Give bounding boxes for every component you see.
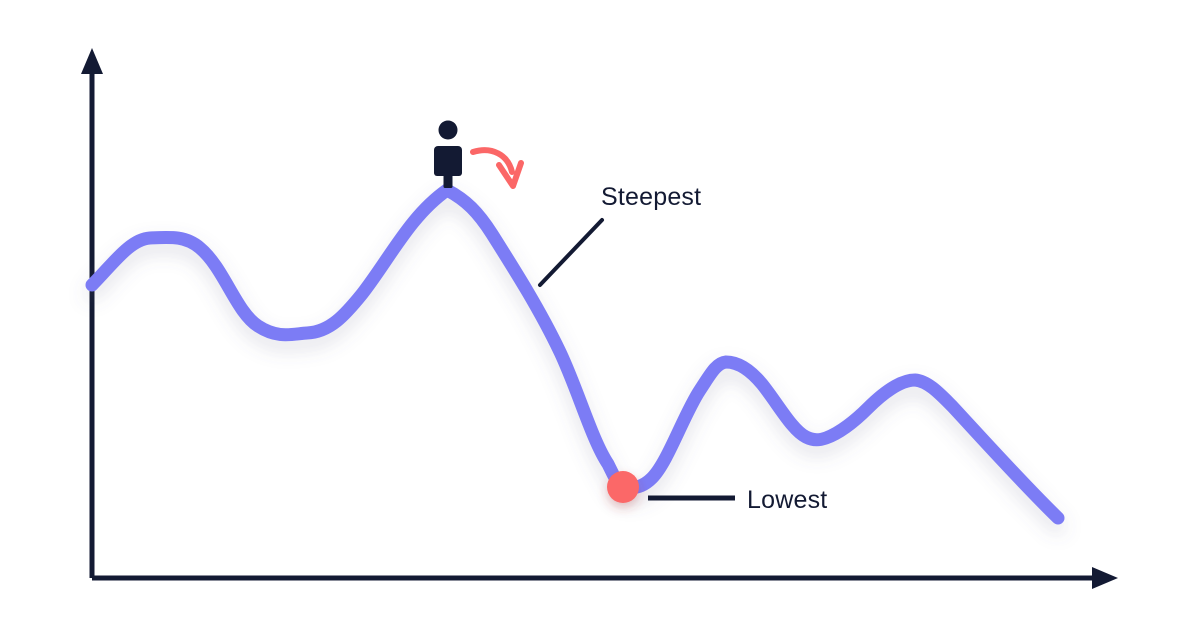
axis-arrow-right-icon xyxy=(1092,567,1118,589)
axis-arrow-up-icon xyxy=(81,48,103,74)
steepest-annotation-label: Steepest xyxy=(601,183,701,212)
chart-canvas: Steepest Lowest xyxy=(0,0,1200,630)
lowest-point-dot-icon xyxy=(607,471,639,503)
curve-series xyxy=(92,190,1058,518)
lowest-annotation-label: Lowest xyxy=(747,486,827,515)
person-standing-icon xyxy=(434,121,462,189)
x-axis xyxy=(92,567,1118,589)
y-axis xyxy=(81,48,103,578)
curved-down-arrow-icon xyxy=(473,150,521,186)
steepest-leader-line xyxy=(540,220,602,285)
line-chart-graphic xyxy=(0,0,1200,630)
curve-path xyxy=(92,190,1058,518)
